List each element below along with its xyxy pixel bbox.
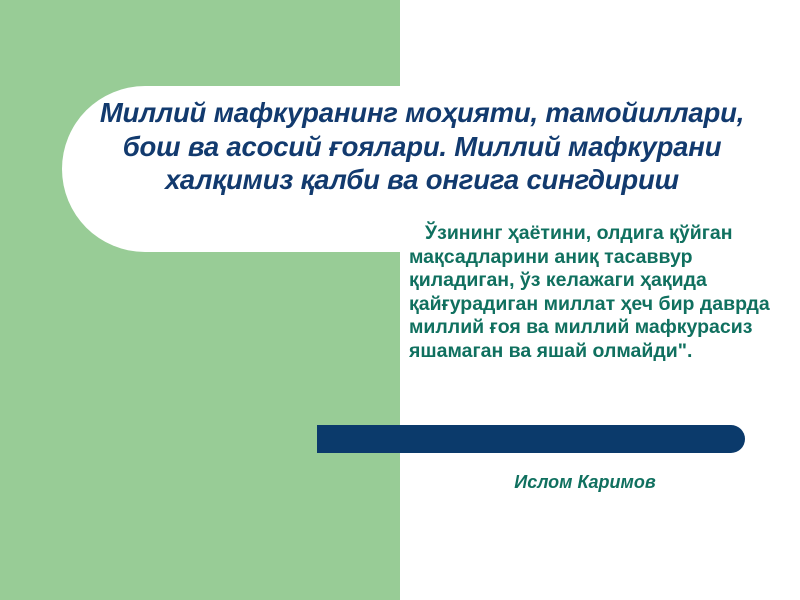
- slide-title: Миллий мафкуранинг моҳияти, тамойиллари,…: [86, 96, 758, 197]
- quote-body-text: Ўзининг ҳаётини, олдига қўйган мақсадлар…: [409, 222, 783, 364]
- presentation-slide: Миллий мафкуранинг моҳияти, тамойиллари,…: [0, 0, 800, 600]
- quote-attribution: Ислом Каримов: [420, 472, 750, 494]
- navy-rule-bar: [317, 425, 745, 453]
